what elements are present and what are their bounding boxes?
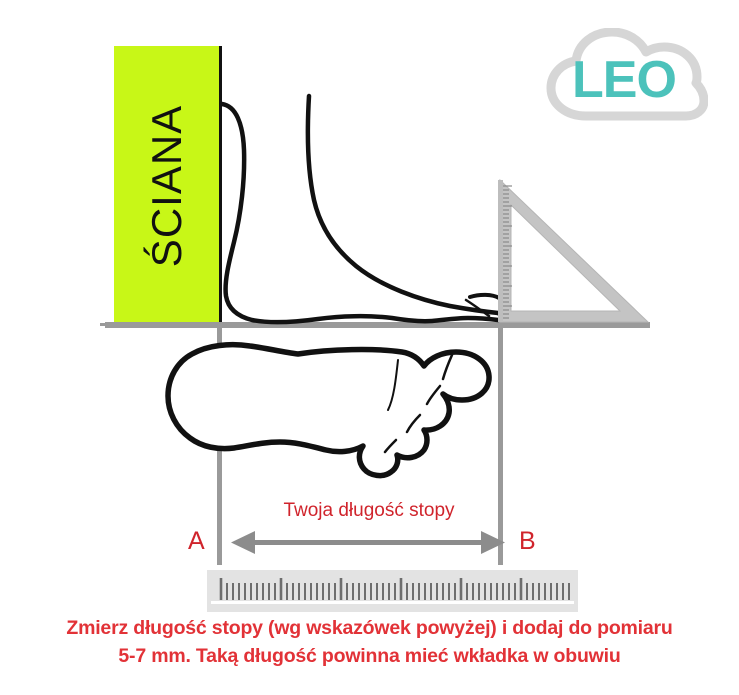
measure-label: Twoja długość stopy (232, 500, 506, 522)
arrow-head-left (231, 531, 255, 554)
foot-top-view (168, 345, 489, 476)
ruler (207, 570, 578, 612)
instruction-diagram-page: ŚCIANA LEO A B Twoja długość stopy Zmier… (0, 0, 739, 695)
guide-line-b (498, 325, 503, 565)
point-label-a: A (188, 527, 205, 556)
set-square-triangle (498, 180, 648, 322)
floor-line (105, 322, 650, 328)
ruler-baseline (211, 601, 574, 604)
foot-side-view (222, 96, 502, 322)
point-label-b: B (519, 527, 536, 556)
leo-logo-text: LEO (540, 28, 708, 124)
measurement-arrow (231, 531, 505, 554)
caption-line-2: 5-7 mm. Taką długość powinna mieć wkładk… (0, 642, 739, 670)
floor-left-tail (100, 323, 116, 326)
instruction-caption: Zmierz długość stopy (wg wskazówek powyż… (0, 614, 739, 670)
wall-block (114, 46, 220, 325)
caption-line-1: Zmierz długość stopy (wg wskazówek powyż… (66, 617, 672, 639)
